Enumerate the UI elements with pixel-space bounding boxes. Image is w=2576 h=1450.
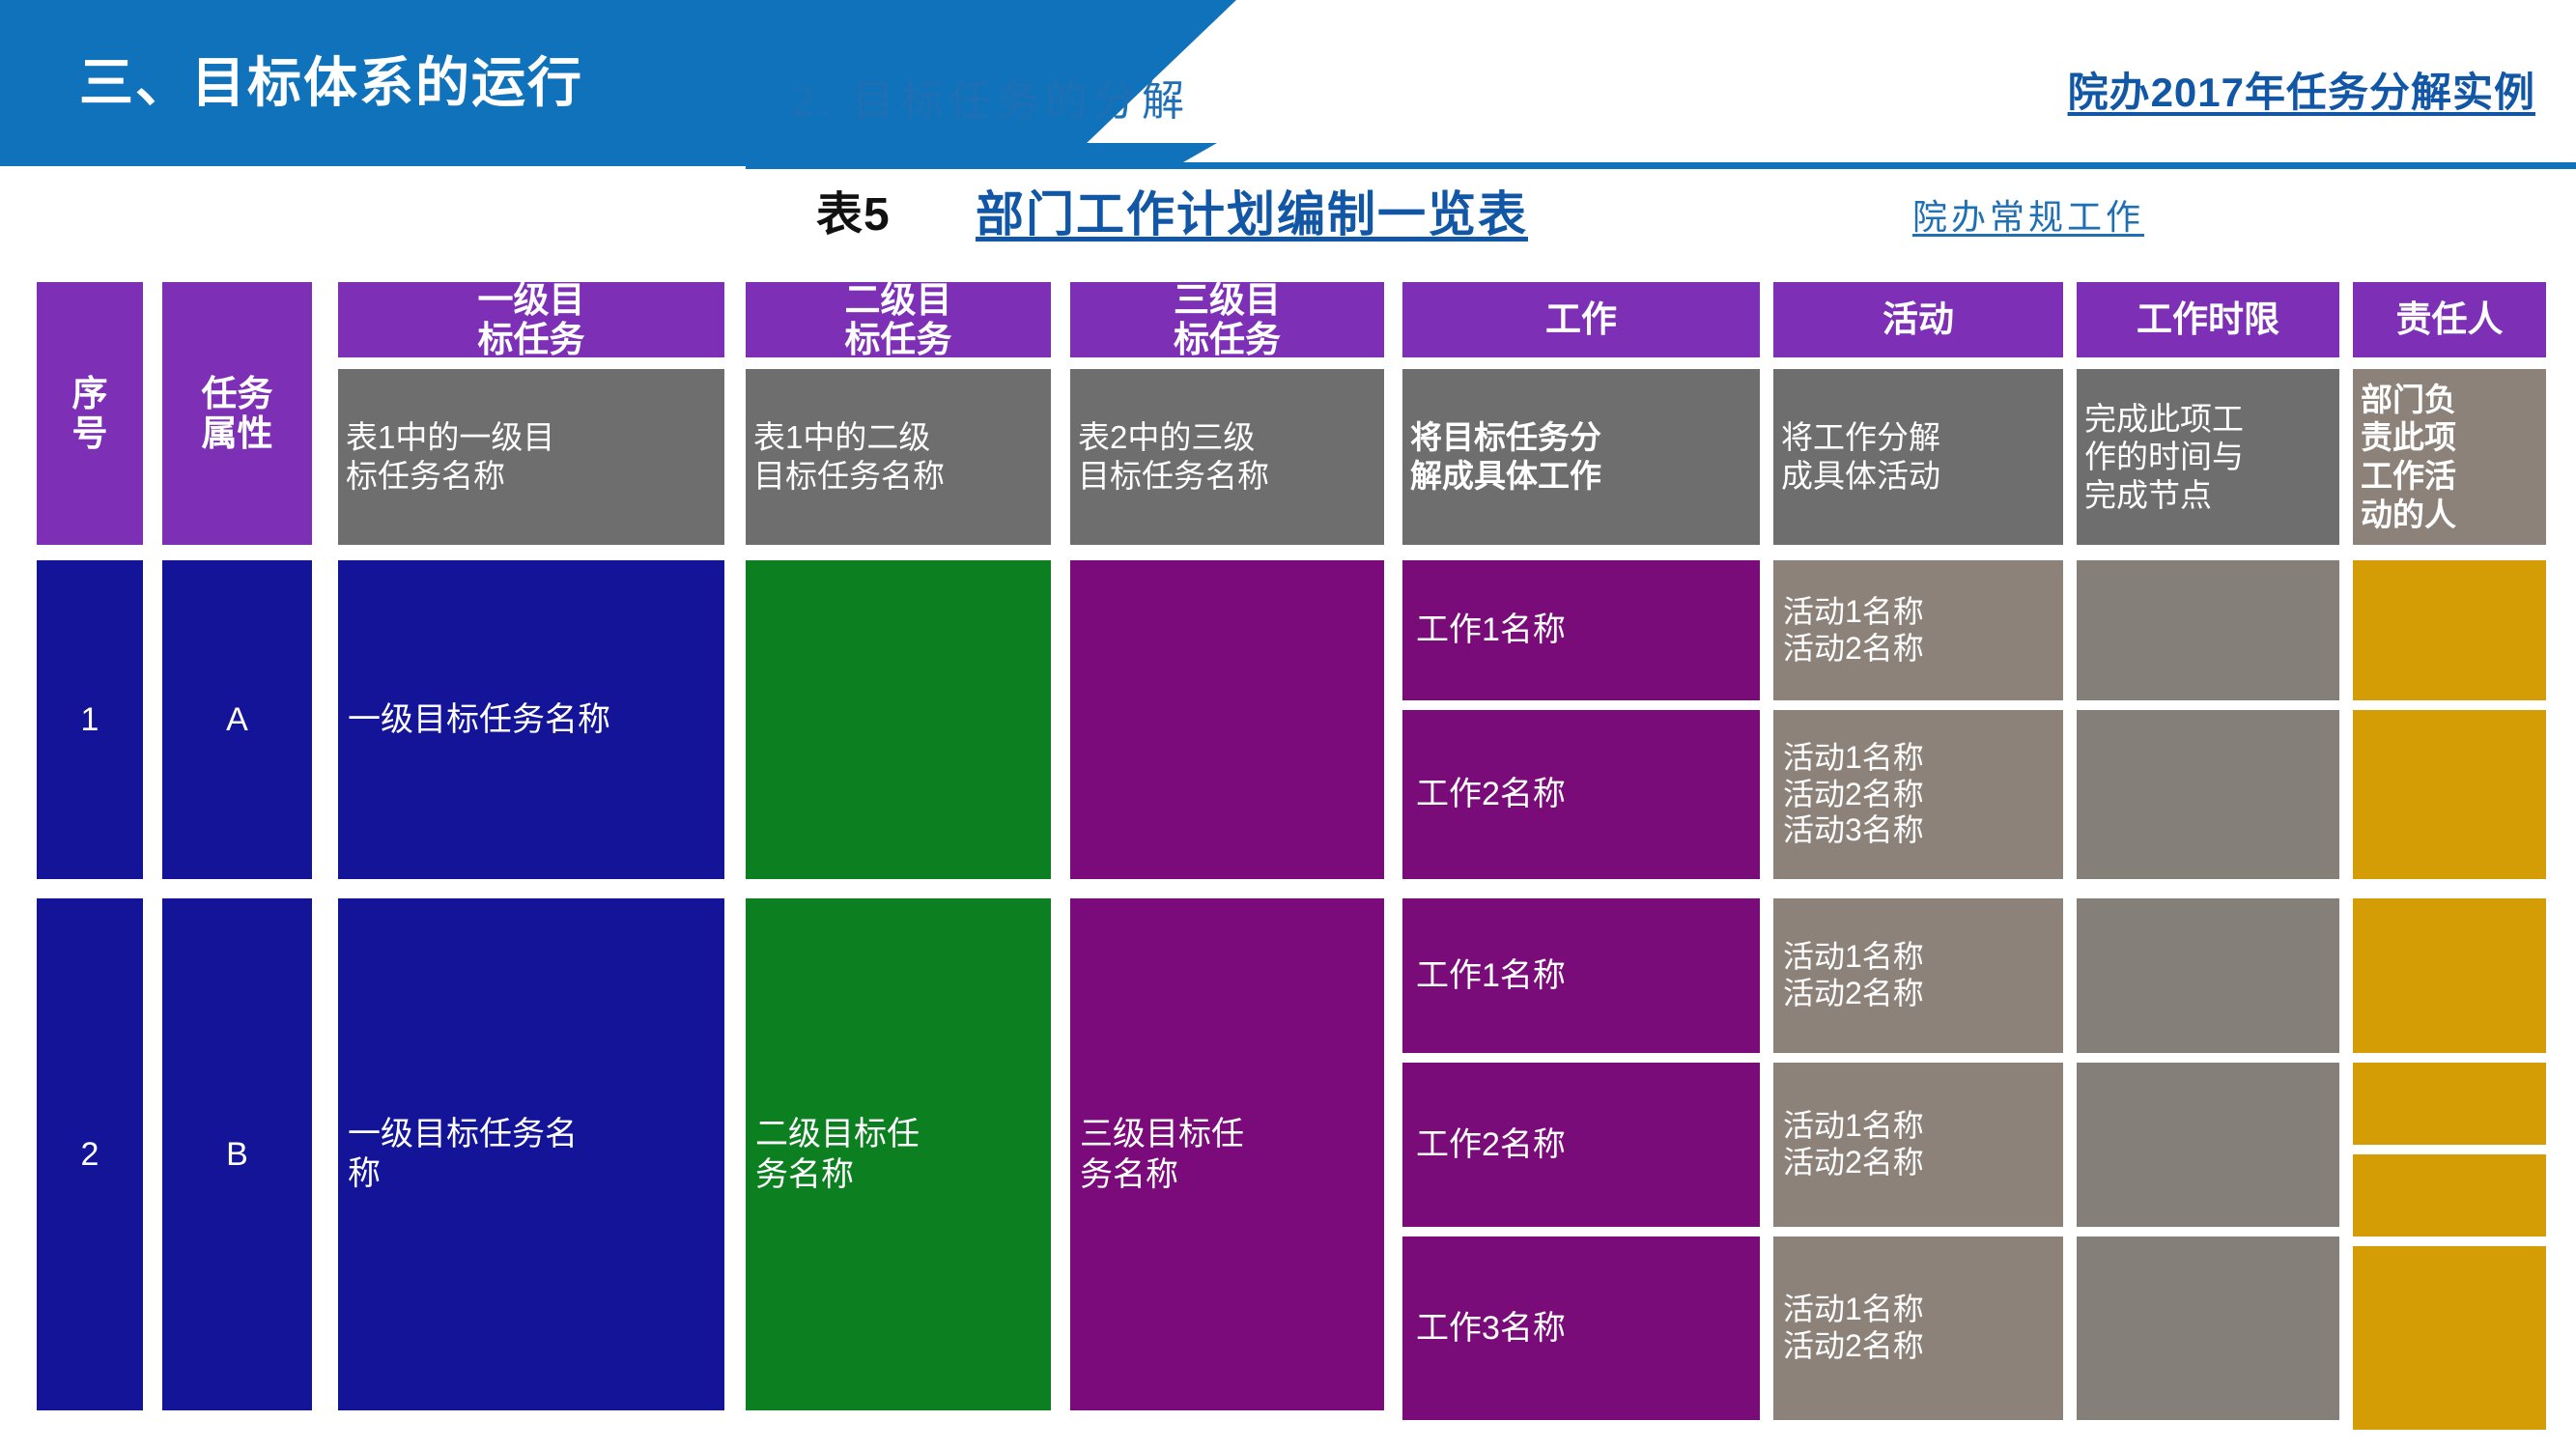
work-cell-1-2: 工作2名称 [1402,710,1760,879]
activity-cell-1-1: 活动1名称 活动2名称 [1773,560,2063,700]
header-divider-rule [746,162,2576,169]
table-caption-tag: 院办常规工作 [1912,189,2144,240]
row-level2-1 [746,560,1051,879]
owner-cell-2-1[interactable] [2353,898,2546,1053]
work-cell-1-1: 工作1名称 [1402,560,1760,700]
column-desc-owner: 部门负 责此项 工作活 动的人 [2353,369,2546,545]
deadline-cell-1-1[interactable] [2077,560,2339,700]
work-cell-2-3: 工作3名称 [1402,1237,1760,1420]
deadline-cell-2-3[interactable] [2077,1237,2339,1420]
row-seq-2: 2 [37,898,143,1410]
column-desc-lvl1: 表1中的一级目 标任务名称 [338,369,724,545]
column-header-lvl2: 二级目 标任务 [746,282,1051,357]
column-header-act: 活动 [1773,282,2063,357]
column-header-work: 工作 [1402,282,1760,357]
activity-cell-2-1: 活动1名称 活动2名称 [1773,898,2063,1053]
column-header-owner: 责任人 [2353,282,2546,357]
row-level1-2: 一级目标任务名 称 [338,898,724,1410]
activity-cell-2-3: 活动1名称 活动2名称 [1773,1237,2063,1420]
row-level1-1: 一级目标任务名称 [338,560,724,879]
row-seq-1: 1 [37,560,143,879]
column-header-attr: 任务 属性 [162,282,312,545]
column-header-lvl3: 三级目 标任务 [1070,282,1384,357]
row-level3-2: 三级目标任 务名称 [1070,898,1384,1410]
owner-cell-2-3[interactable] [2353,1154,2546,1237]
column-header-seq: 序 号 [37,282,143,545]
deadline-cell-2-2[interactable] [2077,1063,2339,1227]
activity-cell-1-2: 活动1名称 活动2名称 活动3名称 [1773,710,2063,879]
column-desc-work: 将目标任务分 解成具体工作 [1402,369,1760,545]
owner-cell-2-2[interactable] [2353,1063,2546,1145]
deadline-cell-1-2[interactable] [2077,710,2339,879]
table-caption-name: 部门工作计划编制一览表 [976,176,1528,245]
work-cell-2-2: 工作2名称 [1402,1063,1760,1227]
owner-cell-2-4[interactable] [2353,1246,2546,1430]
section-title: 三、目标体系的运行 [79,44,697,122]
deadline-cell-2-1[interactable] [2077,898,2339,1053]
column-desc-lvl3: 表2中的三级 目标任务名称 [1070,369,1384,545]
column-header-lvl1: 一级目 标任务 [338,282,724,357]
row-attr-1: A [162,560,312,879]
subsection-title: 2. 目标任务的分解 [792,66,1190,128]
row-level3-1 [1070,560,1384,879]
column-desc-limit: 完成此项工 作的时间与 完成节点 [2077,369,2339,545]
work-cell-2-1: 工作1名称 [1402,898,1760,1053]
column-desc-act: 将工作分解 成具体活动 [1773,369,2063,545]
row-level2-2: 二级目标任 务名称 [746,898,1051,1410]
owner-cell-1-2[interactable] [2353,710,2546,879]
owner-cell-1-1[interactable] [2353,560,2546,700]
activity-cell-2-2: 活动1名称 活动2名称 [1773,1063,2063,1227]
column-header-limit: 工作时限 [2077,282,2339,357]
table-caption-number: 表5 [816,176,891,243]
row-attr-2: B [162,898,312,1410]
column-desc-lvl2: 表1中的二级 目标任务名称 [746,369,1051,545]
top-right-note: 院办2017年任务分解实例 [2068,60,2535,119]
